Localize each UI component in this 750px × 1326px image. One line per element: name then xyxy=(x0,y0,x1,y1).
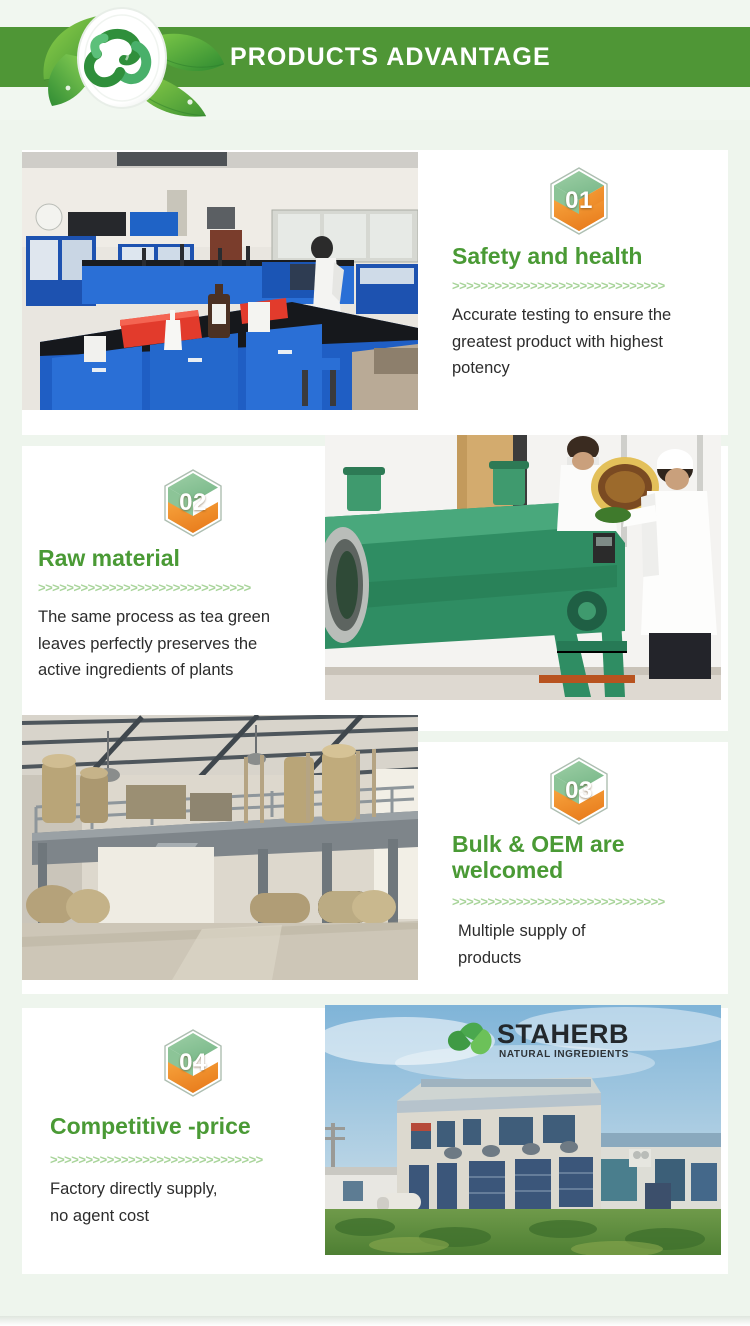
tea-roasting-machine-photo xyxy=(325,435,721,700)
advantage-title-01: Safety and health xyxy=(452,244,722,270)
step-number-04: 04 xyxy=(162,1028,224,1098)
advantage-title-04: Competitive -price xyxy=(50,1114,330,1140)
building-sign-tagline: NATURAL INGREDIENTS xyxy=(499,1049,629,1060)
step-badge-02: 02 xyxy=(162,468,224,538)
step-badge-01: 01 xyxy=(548,166,610,236)
laboratory-photo xyxy=(22,152,418,410)
advantage-body-01: Accurate testing to ensure the greatest … xyxy=(452,302,720,382)
advantage-body-04: Factory directly supply, no agent cost xyxy=(50,1176,322,1229)
extraction-workshop-photo xyxy=(22,715,418,980)
step-number-02: 02 xyxy=(162,468,224,538)
chevron-divider-02: >>>>>>>>>>>>>>>>>>>>>>>>>>>>>> xyxy=(38,580,290,595)
step-number-01: 01 xyxy=(548,166,610,236)
chevron-divider-01: >>>>>>>>>>>>>>>>>>>>>>>>>>>>>> xyxy=(452,278,704,293)
step-badge-03: 03 xyxy=(548,756,610,826)
chevron-divider-04: >>>>>>>>>>>>>>>>>>>>>>>>>>>>>> xyxy=(50,1152,302,1167)
page-header: PRODUCTS ADVANTAGE xyxy=(0,0,750,120)
advantage-body-03: Multiple supply of products xyxy=(458,918,720,971)
content-sheet: 01 Safety and health >>>>>>>>>>>>>>>>>>>… xyxy=(0,120,750,1326)
building-sign-name: STAHERB xyxy=(497,1019,629,1049)
advantage-title-02: Raw material xyxy=(38,546,318,572)
advantage-body-02: The same process as tea green leaves per… xyxy=(38,604,324,684)
step-badge-04: 04 xyxy=(162,1028,224,1098)
page-title: PRODUCTS ADVANTAGE xyxy=(230,27,551,87)
advantage-title-03: Bulk & OEM are welcomed xyxy=(452,832,712,884)
factory-building-photo: STAHERB NATURAL INGREDIENTS xyxy=(325,1005,721,1255)
step-number-03: 03 xyxy=(548,756,610,826)
page-bottom-edge xyxy=(0,1316,750,1326)
chevron-divider-03: >>>>>>>>>>>>>>>>>>>>>>>>>>>>>> xyxy=(452,894,704,909)
leaf-trefoil-logo xyxy=(38,2,233,120)
